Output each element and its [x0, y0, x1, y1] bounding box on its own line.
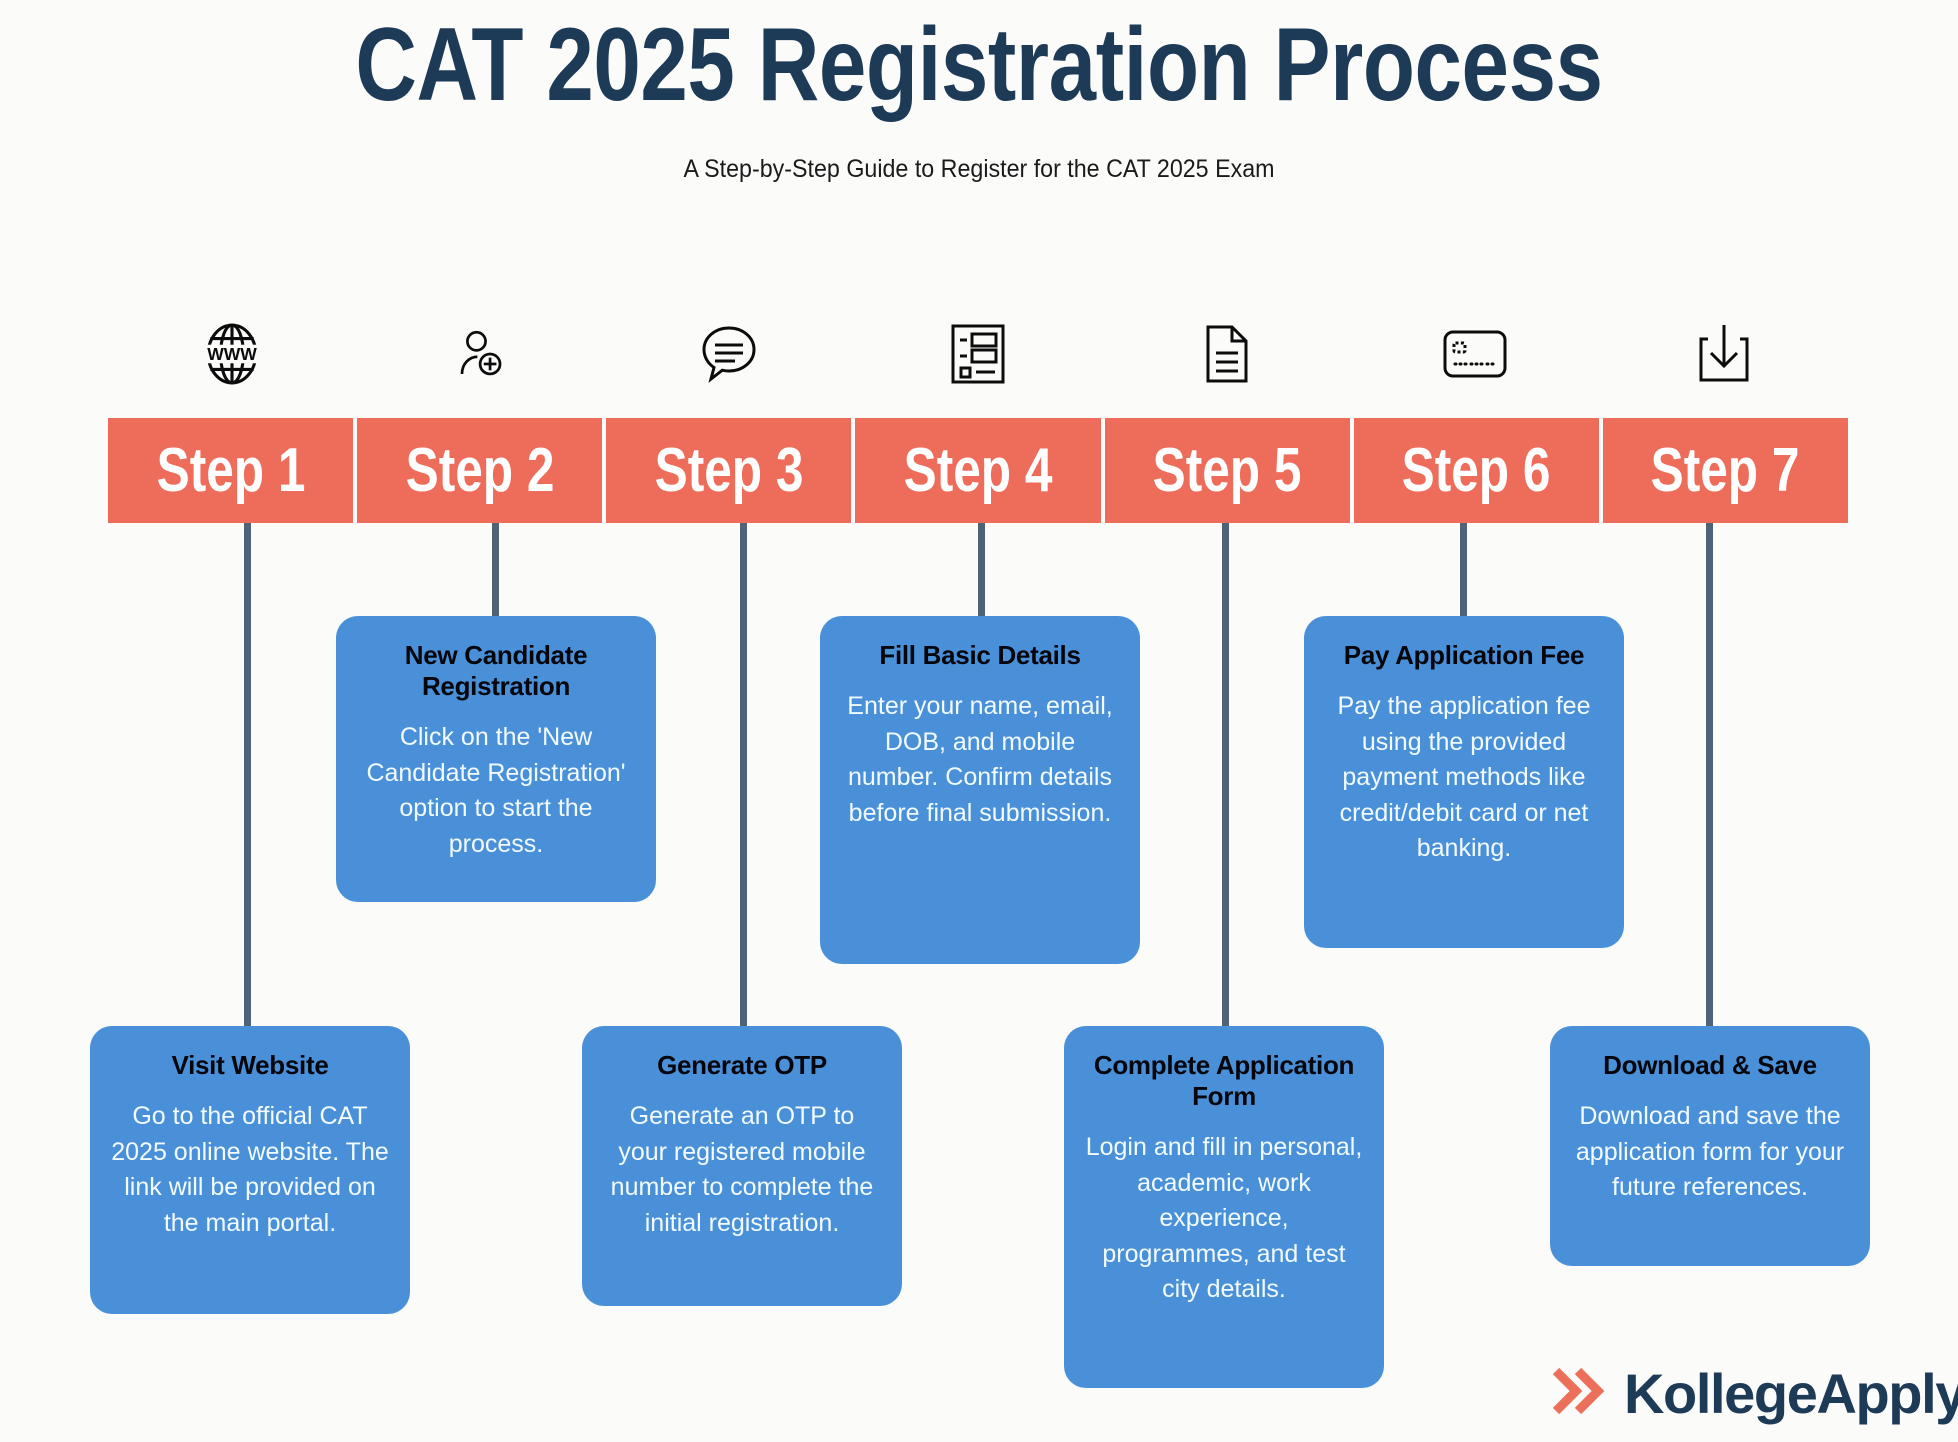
- credit-card-icon: [1442, 329, 1508, 379]
- step-card-6[interactable]: Pay Application Fee Pay the application …: [1304, 616, 1624, 948]
- icon-cell-step-4: [854, 318, 1103, 390]
- step-label-7: Step 7: [1651, 435, 1800, 506]
- step-card-7-title: Download & Save: [1570, 1050, 1850, 1081]
- step-card-4[interactable]: Fill Basic Details Enter your name, emai…: [820, 616, 1140, 964]
- step-card-5[interactable]: Complete Application Form Login and fill…: [1064, 1026, 1384, 1388]
- step-label-4: Step 4: [904, 435, 1053, 506]
- icon-cell-step-6: [1351, 318, 1600, 390]
- step-card-1[interactable]: Visit Website Go to the official CAT 202…: [90, 1026, 410, 1314]
- step-label-6: Step 6: [1402, 435, 1551, 506]
- step-card-7[interactable]: Download & Save Download and save the ap…: [1550, 1026, 1870, 1266]
- step-cell-4[interactable]: Step 4: [855, 418, 1100, 523]
- double-chevron-icon: [1548, 1363, 1610, 1424]
- step-label-2: Step 2: [405, 435, 554, 506]
- icon-cell-step-7: [1599, 318, 1848, 390]
- speech-bubble-message-icon: [697, 322, 761, 386]
- connector-step-6: [1460, 523, 1467, 616]
- step-cell-3[interactable]: Step 3: [606, 418, 851, 523]
- icon-cell-step-1: WWW: [108, 318, 357, 390]
- icon-cell-step-5: [1102, 318, 1351, 390]
- form-fields-icon: [949, 323, 1007, 385]
- step-cell-5[interactable]: Step 5: [1105, 418, 1350, 523]
- step-card-3-title: Generate OTP: [602, 1050, 882, 1081]
- step-card-2-body: Click on the 'New Candidate Registration…: [356, 720, 636, 862]
- step-cell-2[interactable]: Step 2: [357, 418, 602, 523]
- download-tray-icon: [1696, 323, 1752, 385]
- icon-cell-step-3: [605, 318, 854, 390]
- step-card-2-title: New Candidate Registration: [356, 640, 636, 702]
- connector-step-4: [978, 523, 985, 616]
- step-icon-row: WWW: [108, 318, 1848, 390]
- connector-step-5: [1222, 523, 1229, 1033]
- step-card-6-title: Pay Application Fee: [1324, 640, 1604, 671]
- step-card-6-body: Pay the application fee using the provid…: [1324, 689, 1604, 867]
- step-card-7-body: Download and save the application form f…: [1570, 1099, 1850, 1206]
- step-label-5: Step 5: [1153, 435, 1302, 506]
- step-cell-7[interactable]: Step 7: [1603, 418, 1848, 523]
- step-card-5-title: Complete Application Form: [1084, 1050, 1364, 1112]
- step-card-3[interactable]: Generate OTP Generate an OTP to your reg…: [582, 1026, 902, 1306]
- step-cell-1[interactable]: Step 1: [108, 418, 353, 523]
- brand-logo: KollegeApply: [1548, 1358, 1958, 1428]
- step-card-4-body: Enter your name, email, DOB, and mobile …: [840, 689, 1120, 831]
- document-page-icon: [1202, 324, 1252, 384]
- globe-www-icon: WWW: [199, 321, 265, 387]
- connector-step-1: [244, 523, 251, 1033]
- add-user-icon: [452, 325, 510, 383]
- step-card-1-body: Go to the official CAT 2025 online websi…: [110, 1099, 390, 1241]
- step-card-5-body: Login and fill in personal, academic, wo…: [1084, 1130, 1364, 1308]
- step-card-2[interactable]: New Candidate Registration Click on the …: [336, 616, 656, 902]
- step-bar: Step 1 Step 2 Step 3 Step 4 Step 5 Step …: [108, 418, 1848, 523]
- connector-step-7: [1706, 523, 1713, 1033]
- step-card-1-title: Visit Website: [110, 1050, 390, 1081]
- brand-name: KollegeApply: [1624, 1361, 1958, 1426]
- step-card-3-body: Generate an OTP to your registered mobil…: [602, 1099, 882, 1241]
- page-subtitle: A Step-by-Step Guide to Register for the…: [69, 155, 1890, 184]
- step-card-4-title: Fill Basic Details: [840, 640, 1120, 671]
- infographic-canvas: CAT 2025 Registration Process A Step-by-…: [0, 0, 1958, 1442]
- connector-step-2: [492, 523, 499, 616]
- step-cell-6[interactable]: Step 6: [1354, 418, 1599, 523]
- page-title: CAT 2025 Registration Process: [176, 6, 1782, 126]
- svg-text:WWW: WWW: [207, 344, 257, 364]
- step-label-3: Step 3: [654, 435, 803, 506]
- icon-cell-step-2: [357, 318, 606, 390]
- step-label-1: Step 1: [156, 435, 305, 506]
- connector-step-3: [740, 523, 747, 1033]
